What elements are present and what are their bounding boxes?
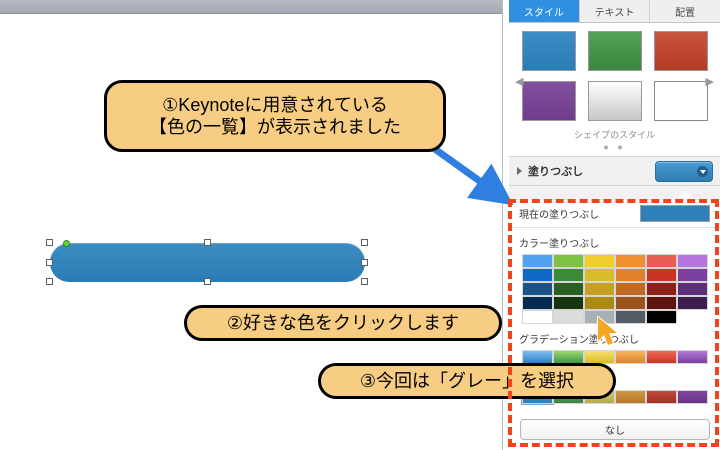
callout-3-line-1: ③今回は「グレー」を選択 (360, 370, 574, 393)
selected-shape-group[interactable] (50, 243, 365, 282)
color-swatch[interactable] (522, 254, 553, 268)
shape-style-gradient-white[interactable] (588, 81, 642, 121)
shape-style-blue[interactable] (522, 31, 576, 71)
color-swatch[interactable] (677, 254, 708, 268)
screenshot-root: スタイル テキスト 配置 ◀ ▶ シェイプのスタイル ● ● (0, 0, 720, 450)
color-swatch[interactable] (615, 296, 646, 310)
current-fill-swatch[interactable] (640, 205, 710, 222)
shape-style-red[interactable] (654, 31, 708, 71)
callout-3: ③今回は「グレー」を選択 (318, 363, 616, 399)
color-swatch[interactable] (522, 268, 553, 282)
color-swatch-empty (677, 310, 708, 324)
gradient-swatch[interactable] (677, 350, 708, 364)
color-swatch[interactable] (584, 296, 615, 310)
color-swatch[interactable] (584, 282, 615, 296)
tab-text-label: テキスト (595, 4, 635, 19)
color-swatch[interactable] (646, 254, 677, 268)
tab-style-label: スタイル (524, 4, 564, 19)
color-swatch[interactable] (646, 282, 677, 296)
shape-styles-section: ◀ ▶ シェイプのスタイル ● ● (509, 23, 720, 156)
gradient-swatch[interactable] (584, 350, 615, 364)
rounded-rectangle-shape[interactable] (50, 243, 365, 282)
callout-2: ②好きな色をクリックします (184, 305, 502, 341)
gradient-fill-grid-row1 (509, 350, 720, 364)
resize-handle-middle-right[interactable] (361, 259, 368, 266)
resize-handle-bottom-center[interactable] (204, 278, 211, 285)
color-swatch[interactable] (553, 282, 584, 296)
resize-handle-top-left[interactable] (46, 239, 53, 246)
color-swatch[interactable] (677, 296, 708, 310)
callout-1: ①Keynoteに用意されている 【色の一覧】が表示されました (104, 80, 446, 152)
tab-text[interactable]: テキスト (580, 0, 651, 22)
tab-style[interactable]: スタイル (509, 0, 580, 22)
fill-color-dropdown-button[interactable] (655, 161, 713, 182)
fill-section-title: 塗りつぶし (528, 163, 583, 179)
color-swatch[interactable] (615, 268, 646, 282)
resize-handle-top-right[interactable] (361, 239, 368, 246)
current-fill-label: 現在の塗りつぶし (519, 206, 599, 221)
popover-pointer (676, 191, 696, 200)
gradient-swatch[interactable] (646, 350, 677, 364)
resize-handle-middle-left[interactable] (46, 259, 53, 266)
color-swatch[interactable] (646, 296, 677, 310)
color-swatch[interactable] (584, 268, 615, 282)
color-fill-label: カラー塗りつぶし (509, 228, 720, 254)
corner-radius-handle[interactable] (63, 240, 70, 247)
none-fill-button[interactable]: なし (520, 419, 710, 440)
color-swatch[interactable] (553, 296, 584, 310)
tab-arrange[interactable]: 配置 (650, 0, 720, 22)
shape-style-purple[interactable] (522, 81, 576, 121)
color-swatch[interactable] (553, 268, 584, 282)
color-swatch-black[interactable] (646, 310, 677, 324)
chevron-down-icon (697, 166, 708, 177)
blue-arrow-icon (430, 145, 520, 215)
color-fill-grid (509, 254, 720, 324)
gradient-swatch[interactable] (522, 350, 553, 364)
tab-arrange-label: 配置 (675, 4, 695, 19)
inspector-tabbar: スタイル テキスト 配置 (509, 0, 720, 23)
gradient-swatch[interactable] (677, 390, 708, 404)
chevron-left-icon[interactable]: ◀ (515, 75, 523, 88)
color-swatch[interactable] (677, 282, 708, 296)
color-swatch[interactable] (553, 254, 584, 268)
color-swatch[interactable] (615, 282, 646, 296)
gradient-swatch[interactable] (615, 390, 646, 404)
color-swatch[interactable] (615, 254, 646, 268)
callout-2-line-1: ②好きな色をクリックします (227, 312, 459, 335)
color-swatch[interactable] (646, 268, 677, 282)
shape-style-grid (509, 31, 720, 121)
color-swatch-light-gray[interactable] (553, 310, 584, 324)
shape-style-green[interactable] (588, 31, 642, 71)
none-fill-label: なし (605, 422, 625, 437)
shape-style-outline-white[interactable] (654, 81, 708, 121)
gradient-swatch[interactable] (553, 350, 584, 364)
color-swatch[interactable] (522, 282, 553, 296)
gradient-swatch[interactable] (615, 350, 646, 364)
color-swatch[interactable] (584, 254, 615, 268)
color-swatch[interactable] (522, 296, 553, 310)
fill-section-header[interactable]: 塗りつぶし (509, 156, 720, 186)
resize-handle-bottom-right[interactable] (361, 278, 368, 285)
resize-handle-top-center[interactable] (204, 239, 211, 246)
resize-handle-bottom-left[interactable] (46, 278, 53, 285)
callout-1-line-1: ①Keynoteに用意されている (162, 94, 388, 117)
mouse-pointer-icon (596, 316, 622, 348)
shape-styles-pagination-dots: ● ● (509, 142, 720, 152)
chevron-right-icon[interactable]: ▶ (706, 75, 714, 88)
canvas-top-bar (0, 0, 502, 14)
color-swatch[interactable] (677, 268, 708, 282)
current-fill-row: 現在の塗りつぶし (509, 200, 720, 228)
gradient-swatch[interactable] (646, 390, 677, 404)
callout-1-line-2: 【色の一覧】が表示されました (149, 116, 401, 139)
shape-styles-label: シェイプのスタイル (509, 128, 720, 141)
color-swatch-white[interactable] (522, 310, 553, 324)
